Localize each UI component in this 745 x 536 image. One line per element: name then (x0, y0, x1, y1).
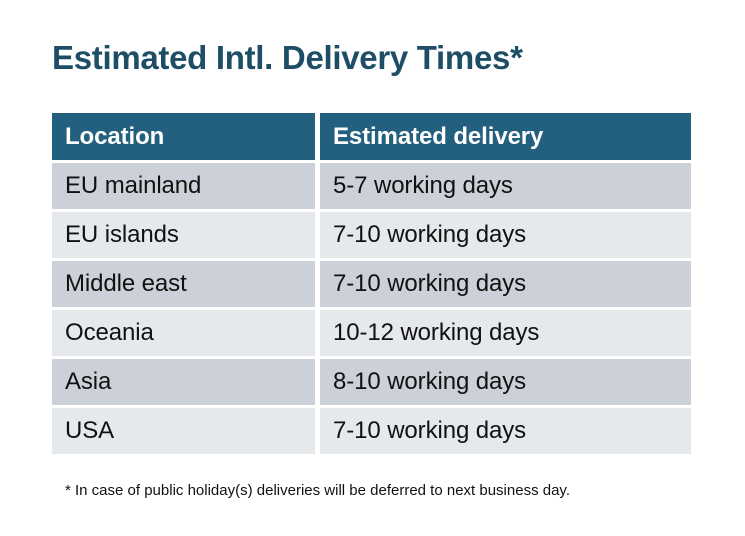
cell-location: Asia (52, 359, 315, 405)
cell-location: Oceania (52, 310, 315, 356)
cell-estimated-delivery: 7-10 working days (320, 212, 691, 258)
table-header-row: Location Estimated delivery (52, 113, 691, 160)
page-title: Estimated Intl. Delivery Times* (52, 36, 523, 80)
column-header-location: Location (52, 113, 315, 160)
cell-location: EU mainland (52, 163, 315, 209)
cell-location: EU islands (52, 212, 315, 258)
cell-estimated-delivery: 10-12 working days (320, 310, 691, 356)
table-row: Oceania 10-12 working days (52, 310, 691, 356)
footnote-text: * In case of public holiday(s) deliverie… (65, 481, 570, 501)
cell-location: USA (52, 408, 315, 454)
cell-estimated-delivery: 5-7 working days (320, 163, 691, 209)
table-row: USA 7-10 working days (52, 408, 691, 454)
delivery-times-page: Estimated Intl. Delivery Times* Location… (0, 0, 745, 536)
table-row: Middle east 7-10 working days (52, 261, 691, 307)
estimated-delivery-times-table: Location Estimated delivery EU mainland … (52, 113, 691, 454)
cell-location: Middle east (52, 261, 315, 307)
cell-estimated-delivery: 7-10 working days (320, 408, 691, 454)
table-row: EU islands 7-10 working days (52, 212, 691, 258)
table-row: Asia 8-10 working days (52, 359, 691, 405)
table-row: EU mainland 5-7 working days (52, 163, 691, 209)
cell-estimated-delivery: 8-10 working days (320, 359, 691, 405)
cell-estimated-delivery: 7-10 working days (320, 261, 691, 307)
column-header-estimated-delivery: Estimated delivery (320, 113, 691, 160)
